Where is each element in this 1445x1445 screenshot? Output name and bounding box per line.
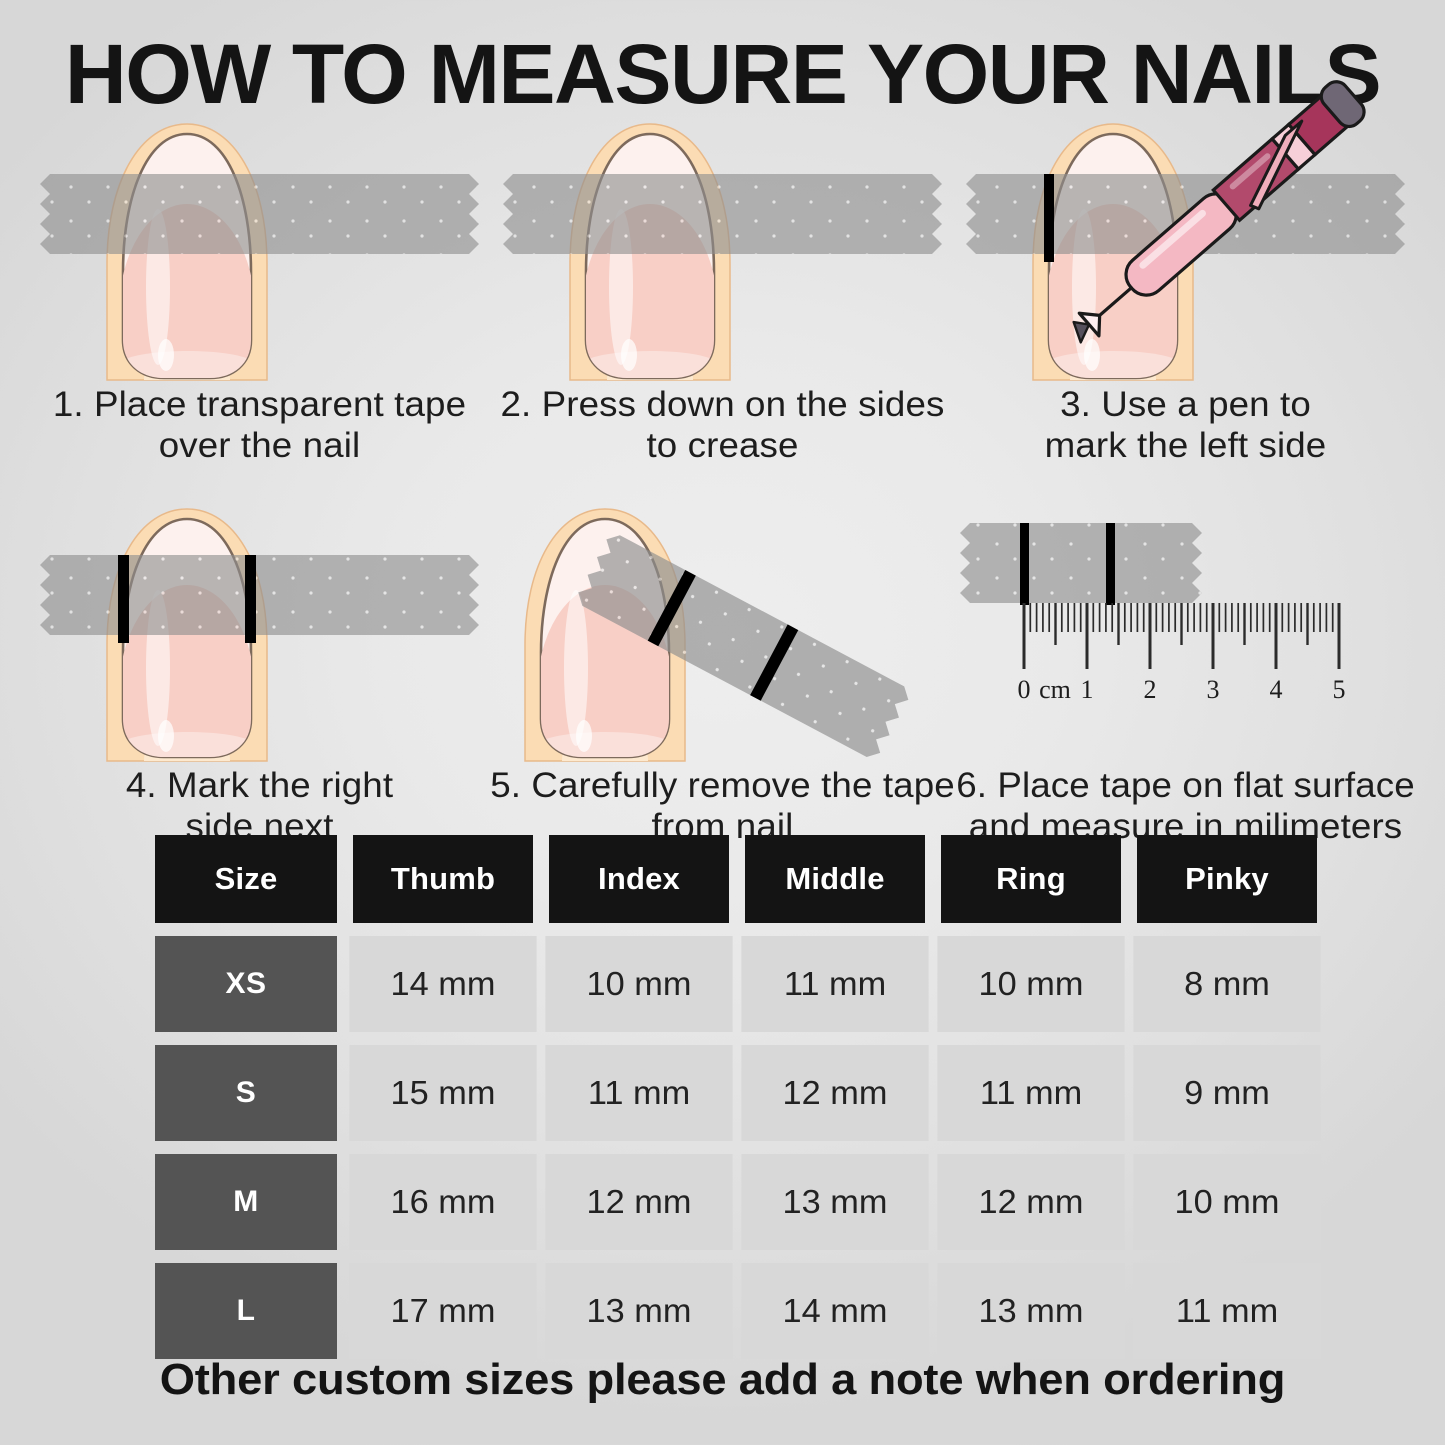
cell-l-index: 13 mm [545,1263,732,1359]
table-header-index: Index [549,835,729,923]
finger-tape-two-marks-illustration [28,503,491,761]
step-2-illustration [491,112,954,380]
finger-with-creased-tape-illustration [491,112,954,380]
ruler-tick-1: 1 [1081,675,1094,704]
cell-m-middle: 13 mm [741,1154,928,1250]
step-3: 3. Use a pen to mark the left side [954,112,1417,467]
ruler-tick-0: 0 [1018,675,1031,704]
cell-s-ring: 11 mm [937,1045,1124,1141]
finger-with-tape-illustration [28,112,491,380]
finger-tape-pen-illustration [954,112,1417,380]
page-title: HOW TO MEASURE YOUR NAILS [0,26,1445,123]
cell-xs-thumb: 14 mm [349,936,536,1032]
step-3-illustration [954,112,1417,380]
cell-s-middle: 12 mm [741,1045,928,1141]
cell-l-thumb: 17 mm [349,1263,536,1359]
ruler-labels: 0 cm 1 2 3 4 5 [1018,675,1346,704]
cell-s-index: 11 mm [545,1045,732,1141]
step-1: 1. Place transparent tape over the nail [28,112,491,467]
transparent-tape [40,174,479,254]
step-6: 0 cm 1 2 3 4 5 6. Place tape on flat sur… [954,503,1417,848]
cell-m-pinky: 10 mm [1133,1154,1320,1250]
cell-m-thumb: 16 mm [349,1154,536,1250]
step-2-caption: 2. Press down on the sides to crease [479,380,965,467]
custom-size-note: Other custom sizes please add a note whe… [0,1355,1445,1405]
right-pen-mark [245,555,256,643]
step-2: 2. Press down on the sides to crease [491,112,954,467]
size-label-xs: XS [155,936,337,1032]
ruler-tick-4: 4 [1270,675,1283,704]
ruler-tick-5: 5 [1333,675,1346,704]
table-row: S 15 mm 11 mm 12 mm 11 mm 9 mm [155,1045,1311,1141]
left-pen-mark [118,555,129,643]
cell-xs-index: 10 mm [545,936,732,1032]
ruler-tick-2: 2 [1144,675,1157,704]
cell-l-middle: 14 mm [741,1263,928,1359]
ruler [1024,603,1339,669]
step-5: 5. Carefully remove the tape from nail [491,503,954,848]
cell-xs-ring: 10 mm [937,936,1124,1032]
table-header-size: Size [155,835,337,923]
size-label-s: S [155,1045,337,1141]
table-header-ring: Ring [941,835,1121,923]
cell-xs-pinky: 8 mm [1133,936,1320,1032]
table-row: L 17 mm 13 mm 14 mm 13 mm 11 mm [155,1263,1311,1359]
left-pen-mark [1044,174,1054,262]
step-6-illustration: 0 cm 1 2 3 4 5 [954,503,1417,761]
step-3-caption: 3. Use a pen to mark the left side [942,380,1428,467]
table-header-row: Size Thumb Index Middle Ring Pinky [155,835,1311,923]
size-chart-table: Size Thumb Index Middle Ring Pinky XS 14… [155,835,1311,1359]
cell-s-pinky: 9 mm [1133,1045,1320,1141]
transparent-tape [503,174,942,254]
step-5-illustration [491,503,954,761]
cell-xs-middle: 11 mm [741,936,928,1032]
cell-l-pinky: 11 mm [1133,1263,1320,1359]
tape-on-ruler-illustration: 0 cm 1 2 3 4 5 [954,503,1417,761]
ruler-tick-3: 3 [1207,675,1220,704]
steps-grid: 1. Place transparent tape over the nail [28,112,1417,847]
cell-l-ring: 13 mm [937,1263,1124,1359]
size-label-m: M [155,1154,337,1250]
step-4-illustration [28,503,491,761]
table-row: XS 14 mm 10 mm 11 mm 10 mm 8 mm [155,936,1311,1032]
table-row: M 16 mm 12 mm 13 mm 12 mm 10 mm [155,1154,1311,1250]
finger-tape-peeling-illustration [491,503,954,761]
transparent-tape [40,555,479,635]
cell-s-thumb: 15 mm [349,1045,536,1141]
cell-m-index: 12 mm [545,1154,732,1250]
measured-tape [960,523,1202,603]
cell-m-ring: 12 mm [937,1154,1124,1250]
table-header-middle: Middle [745,835,925,923]
size-label-l: L [155,1263,337,1359]
step-1-caption: 1. Place transparent tape over the nail [16,380,502,467]
table-header-thumb: Thumb [353,835,533,923]
step-4: 4. Mark the right side next [28,503,491,848]
ruler-unit-label: cm [1039,675,1071,704]
table-header-pinky: Pinky [1137,835,1317,923]
step-1-illustration [28,112,491,380]
